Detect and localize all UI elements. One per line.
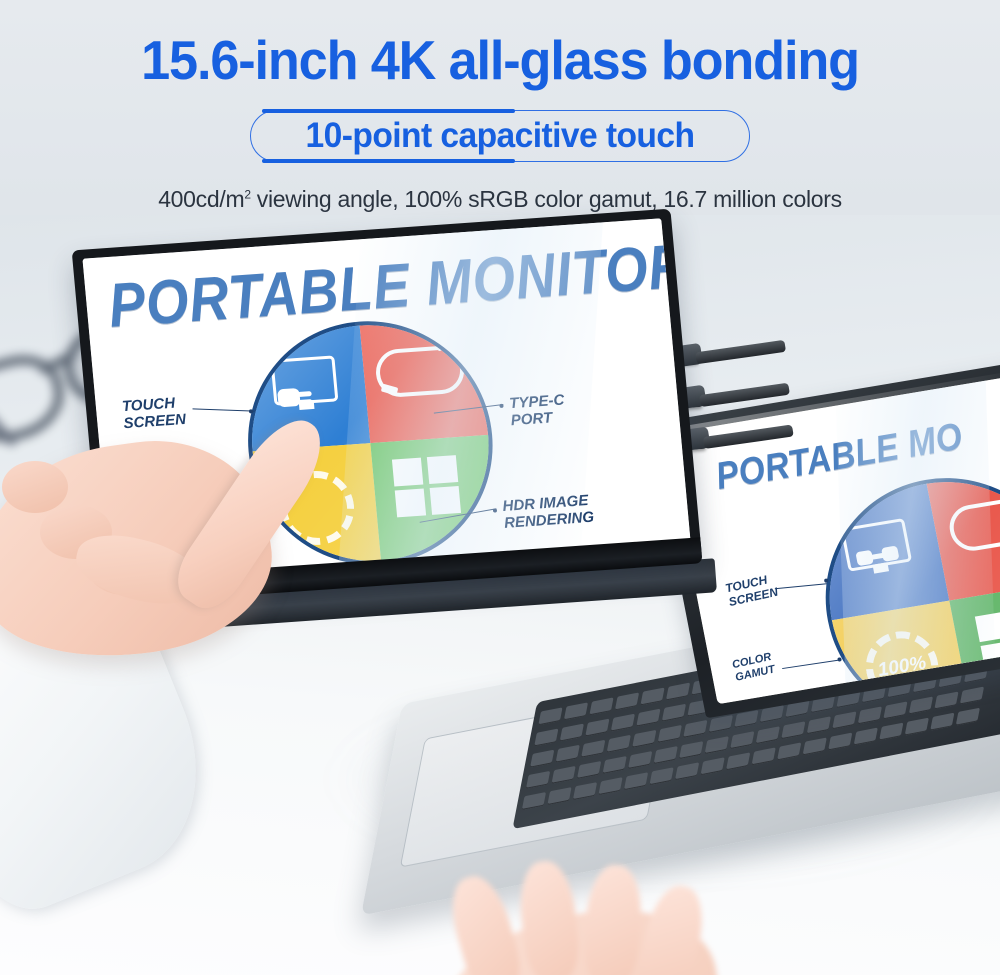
product-banner: 15.6-inch 4K all-glass bonding 10-point … xyxy=(0,0,1000,975)
laptop-label-color-gamut: COLOR GAMUT xyxy=(731,651,776,684)
page-headline: 15.6-inch 4K all-glass bonding xyxy=(25,28,975,92)
spec-brightness: 400cd/m xyxy=(158,186,244,212)
laptop-feature-wheel: 100% xyxy=(809,464,1000,704)
badge-label: 10-point capacitive touch xyxy=(260,110,740,162)
laptop-label-touch-screen: TOUCH SCREEN xyxy=(724,572,779,609)
laptop-leader-color-gamut xyxy=(782,659,840,669)
background-finger-3 xyxy=(582,863,644,975)
hand-knuckle-1 xyxy=(2,461,68,513)
leader-dot-typec xyxy=(499,404,503,408)
label-type-c-port: TYPE-C PORT xyxy=(509,391,567,429)
laptop-leader-touch-screen xyxy=(775,583,827,589)
background-finger-1 xyxy=(443,870,528,975)
spec-rest: viewing angle, 100% sRGB color gamut, 16… xyxy=(251,186,842,212)
capacitive-touch-badge: 10-point capacitive touch xyxy=(250,110,750,162)
spec-subline: 400cd/m2 viewing angle, 100% sRGB color … xyxy=(0,186,1000,213)
leader-dot-hdr xyxy=(493,508,497,512)
background-hand xyxy=(430,855,760,975)
label-hdr-image: HDR IMAGE RENDERING xyxy=(502,492,595,532)
pointing-hand xyxy=(0,365,340,665)
